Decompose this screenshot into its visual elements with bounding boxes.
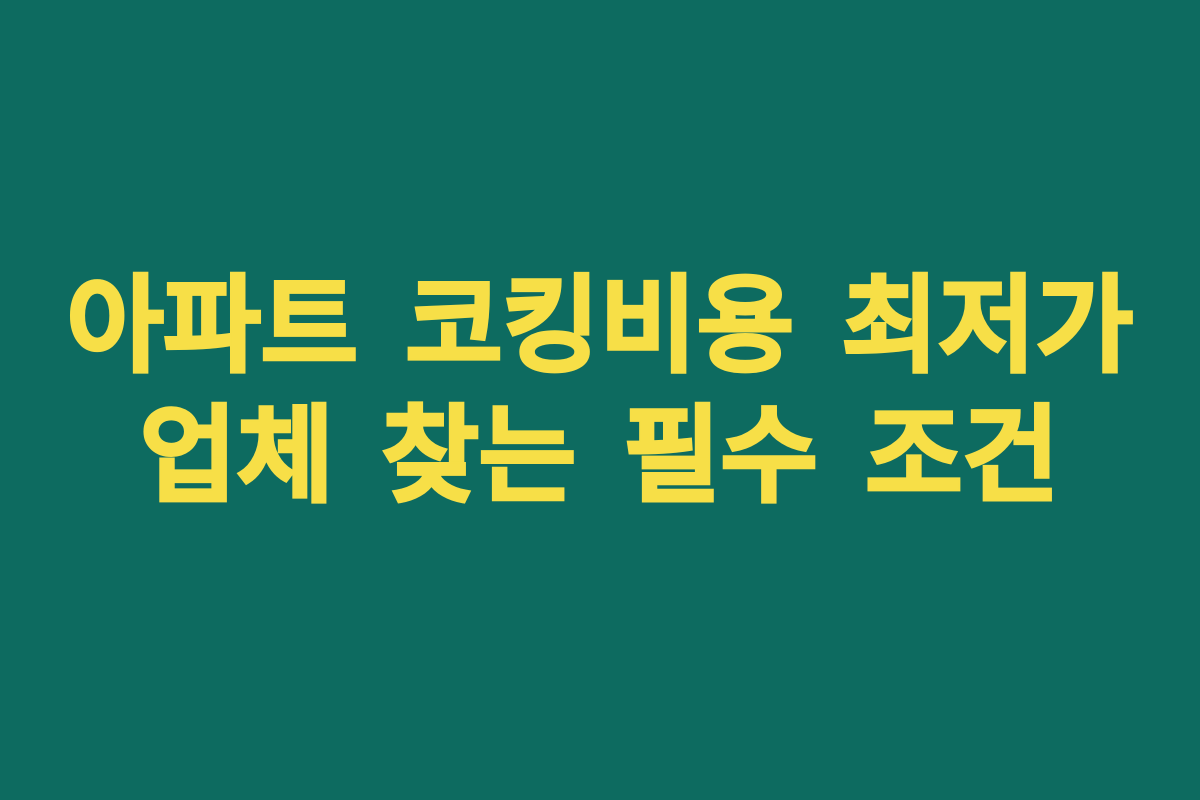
thumbnail-card: 아파트 코킹비용 최저가 업체 찾는 필수 조건 [0, 0, 1200, 800]
title-block: 아파트 코킹비용 최저가 업체 찾는 필수 조건 [0, 261, 1200, 521]
title-line-1: 아파트 코킹비용 최저가 [0, 261, 1200, 391]
title-line-2: 업체 찾는 필수 조건 [0, 391, 1200, 521]
